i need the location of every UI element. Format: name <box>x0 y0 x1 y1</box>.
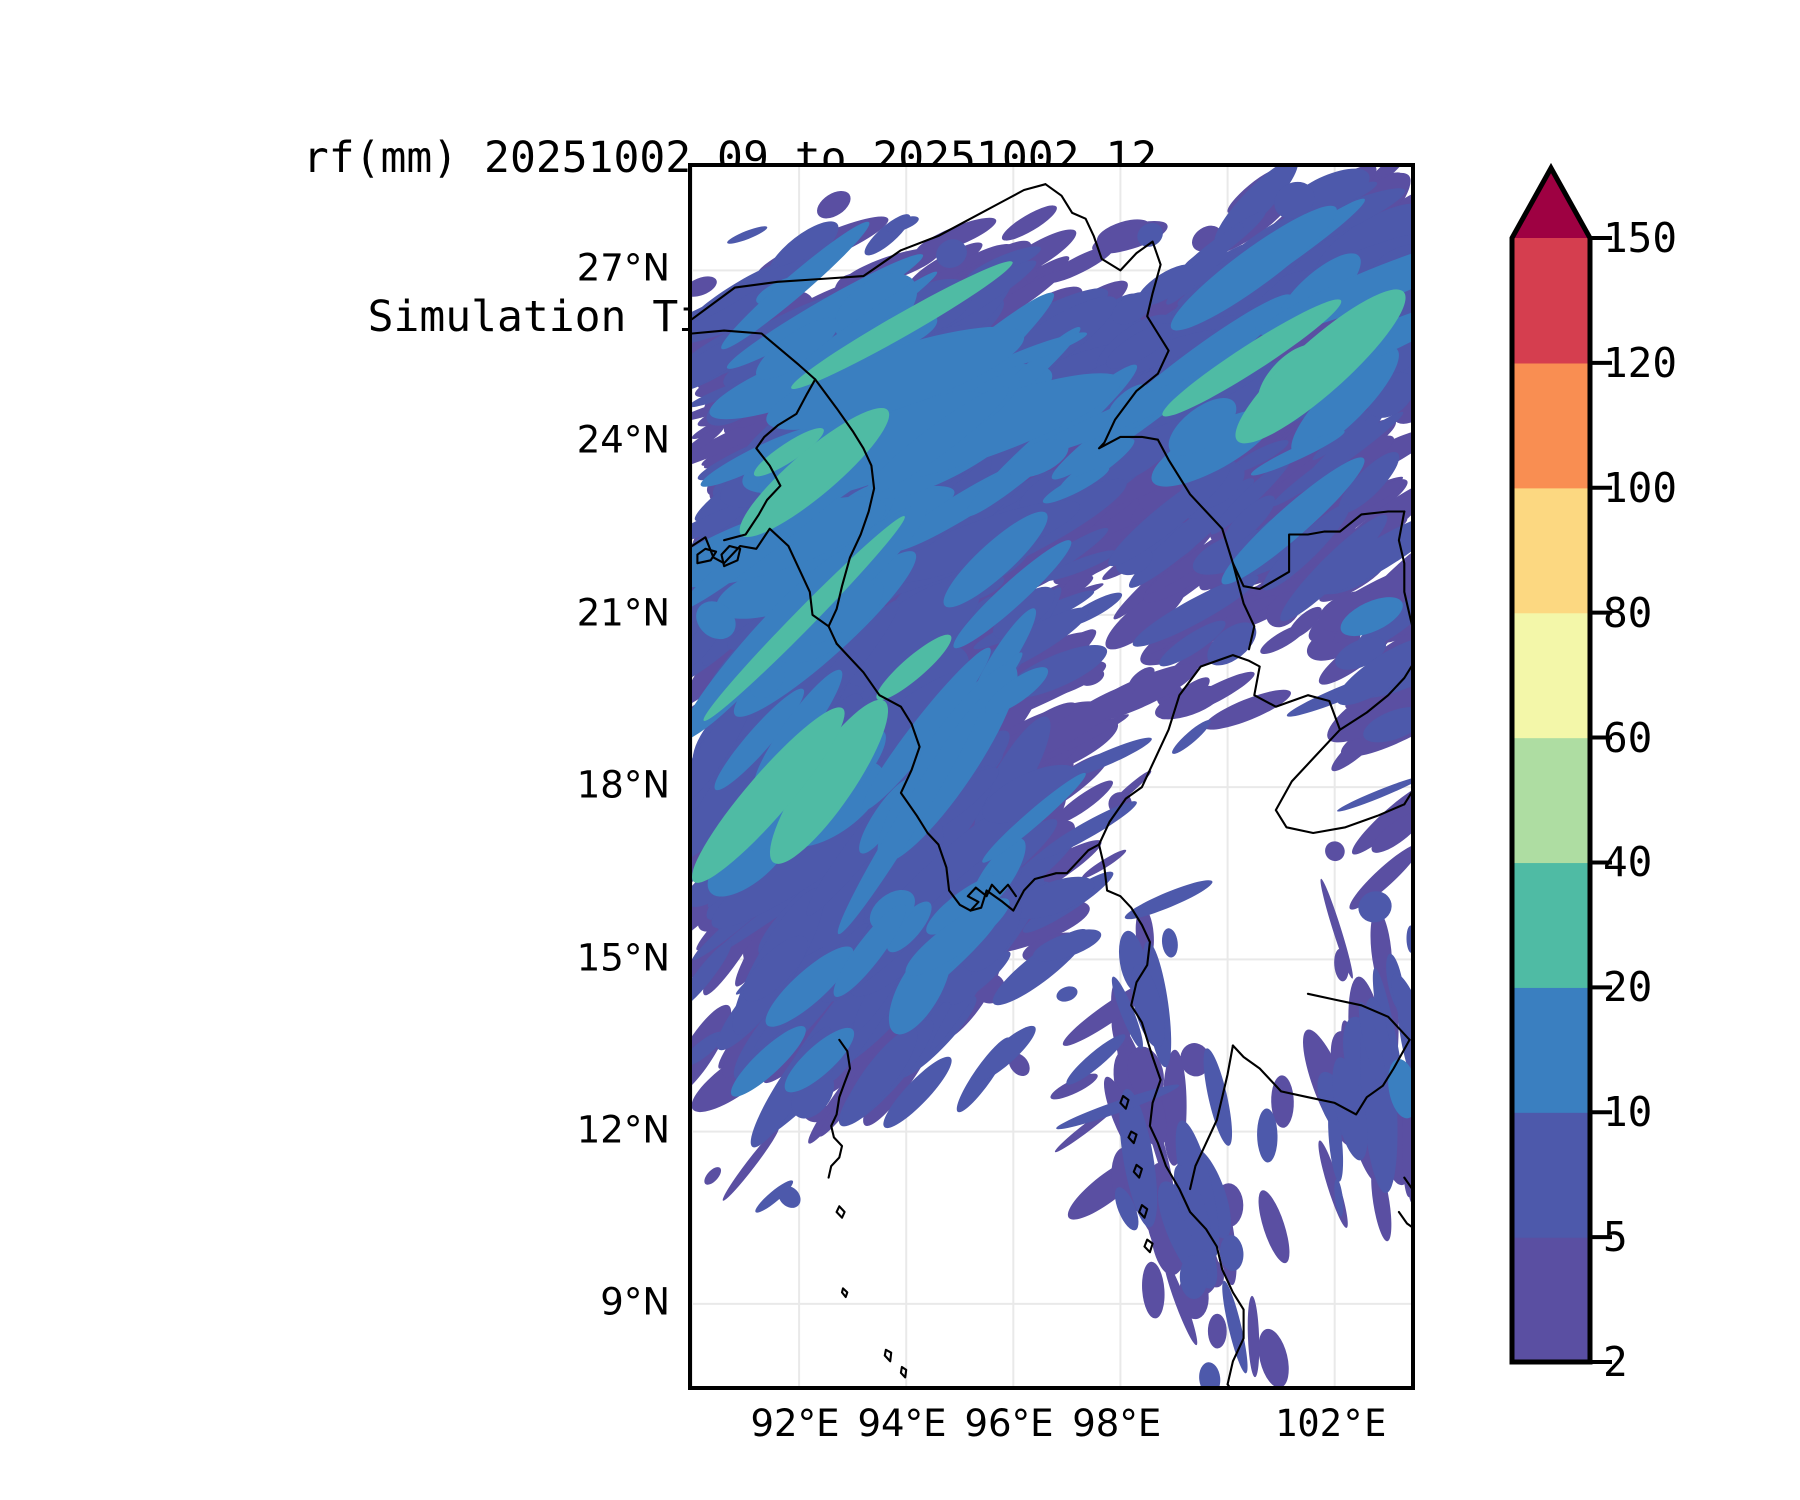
colorbar-band-120-150 <box>1512 238 1590 363</box>
xtick-label-96: 96°E <box>965 1402 1054 1445</box>
colorbar-band-2-5 <box>1512 1237 1590 1362</box>
colorbar: 251020406080100120150 <box>1500 140 1800 1400</box>
colorbar-band-60-80 <box>1512 613 1590 738</box>
colorbar-label-40: 40 <box>1603 838 1652 886</box>
colorbar-band-10-20 <box>1512 987 1590 1112</box>
xtick-label-102: 102°E <box>1275 1402 1386 1445</box>
colorbar-ticks <box>1590 238 1612 1362</box>
colorbar-band-100-120 <box>1512 363 1590 488</box>
map-axes <box>688 163 1415 1390</box>
ytick-label-15: 15°N <box>577 936 670 979</box>
colorbar-label-100: 100 <box>1603 464 1677 512</box>
map-canvas <box>692 167 1411 1386</box>
xtick-label-98: 98°E <box>1072 1402 1161 1445</box>
rainfall-map-svg <box>692 167 1411 1386</box>
colorbar-svg <box>1500 140 1800 1400</box>
ytick-label-18: 18°N <box>577 764 670 807</box>
colorbar-band-20-40 <box>1512 862 1590 987</box>
colorbar-band-5-10 <box>1512 1112 1590 1237</box>
colorbar-label-60: 60 <box>1603 714 1652 762</box>
colorbar-label-120: 120 <box>1603 339 1677 387</box>
colorbar-label-150: 150 <box>1603 214 1677 262</box>
colorbar-label-80: 80 <box>1603 589 1652 637</box>
xtick-label-92: 92°E <box>751 1402 840 1445</box>
colorbar-label-20: 20 <box>1603 963 1652 1011</box>
colorbar-extend-arrow <box>1512 168 1590 238</box>
colorbar-label-2: 2 <box>1603 1338 1628 1386</box>
colorbar-bands <box>1512 168 1590 1363</box>
ytick-label-27: 27°N <box>577 246 670 289</box>
ytick-label-21: 21°N <box>577 591 670 634</box>
xtick-label-94: 94°E <box>858 1402 947 1445</box>
ytick-label-9: 9°N <box>600 1281 670 1324</box>
ytick-label-24: 24°N <box>577 419 670 462</box>
colorbar-band-80-100 <box>1512 488 1590 613</box>
colorbar-band-40-60 <box>1512 738 1590 863</box>
colorbar-label-5: 5 <box>1603 1213 1628 1261</box>
ytick-label-12: 12°N <box>577 1108 670 1151</box>
colorbar-label-10: 10 <box>1603 1088 1652 1136</box>
